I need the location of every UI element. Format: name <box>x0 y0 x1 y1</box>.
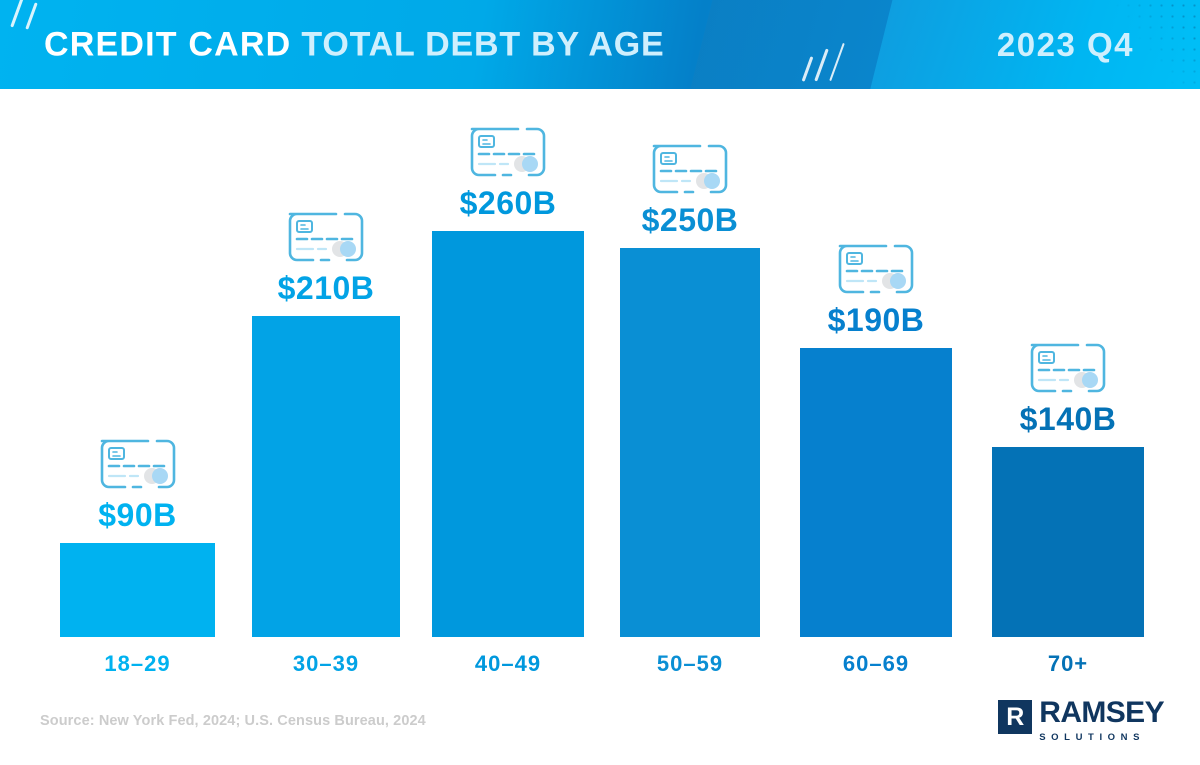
bar-group: $140B 70+ <box>992 89 1144 685</box>
footer: Source: New York Fed, 2024; U.S. Census … <box>0 685 1200 765</box>
bar-chart: $90B 18–29$210B 30–39$260B 40–49$250B 50 <box>0 89 1200 685</box>
title-emphasis: CREDIT CARD <box>44 25 291 63</box>
bar-group: $250B 50–59 <box>620 89 760 685</box>
logo-name: RAMSEY <box>1039 699 1164 728</box>
header-banner: CREDIT CARD TOTAL DEBT BY AGE 2023 Q4 <box>0 0 1200 89</box>
bar <box>60 543 215 637</box>
ramsey-logo: R RAMSEY SOLUTIONS <box>998 699 1164 743</box>
bar <box>992 447 1144 637</box>
bar-group: $210B 30–39 <box>252 89 400 685</box>
credit-card-icon <box>283 208 369 266</box>
bar-value-label: $90B <box>98 497 177 534</box>
plot-area: $90B 18–29$210B 30–39$260B 40–49$250B 50 <box>40 89 1160 685</box>
page-title: CREDIT CARD TOTAL DEBT BY AGE <box>44 25 664 64</box>
logo-mark-icon: R <box>998 700 1032 734</box>
bar-value-label: $260B <box>460 185 557 222</box>
credit-card-icon <box>647 140 733 198</box>
bar-value-label: $140B <box>1020 401 1117 438</box>
bar-value-label: $210B <box>278 270 375 307</box>
bar-category-label: 70+ <box>1048 651 1088 677</box>
bar-category-label: 50–59 <box>657 651 723 677</box>
bar <box>620 248 760 637</box>
source-note: Source: New York Fed, 2024; U.S. Census … <box>40 713 426 729</box>
period-label: 2023 Q4 <box>997 26 1134 64</box>
bar <box>432 231 584 637</box>
credit-card-icon <box>465 123 551 181</box>
bar-group: $90B 18–29 <box>60 89 215 685</box>
credit-card-icon <box>833 240 919 298</box>
bar-value-label: $250B <box>642 202 739 239</box>
logo-subtitle: SOLUTIONS <box>1039 732 1164 743</box>
title-remainder: TOTAL DEBT BY AGE <box>301 25 664 63</box>
bar <box>252 316 400 637</box>
credit-card-icon <box>95 435 181 493</box>
bar-category-label: 18–29 <box>104 651 170 677</box>
bar-value-label: $190B <box>828 302 925 339</box>
bar-category-label: 40–49 <box>475 651 541 677</box>
credit-card-icon <box>1025 339 1111 397</box>
bar-category-label: 30–39 <box>293 651 359 677</box>
bar-group: $260B 40–49 <box>432 89 584 685</box>
bar-group: $190B 60–69 <box>800 89 952 685</box>
bar-category-label: 60–69 <box>843 651 909 677</box>
bar <box>800 348 952 637</box>
